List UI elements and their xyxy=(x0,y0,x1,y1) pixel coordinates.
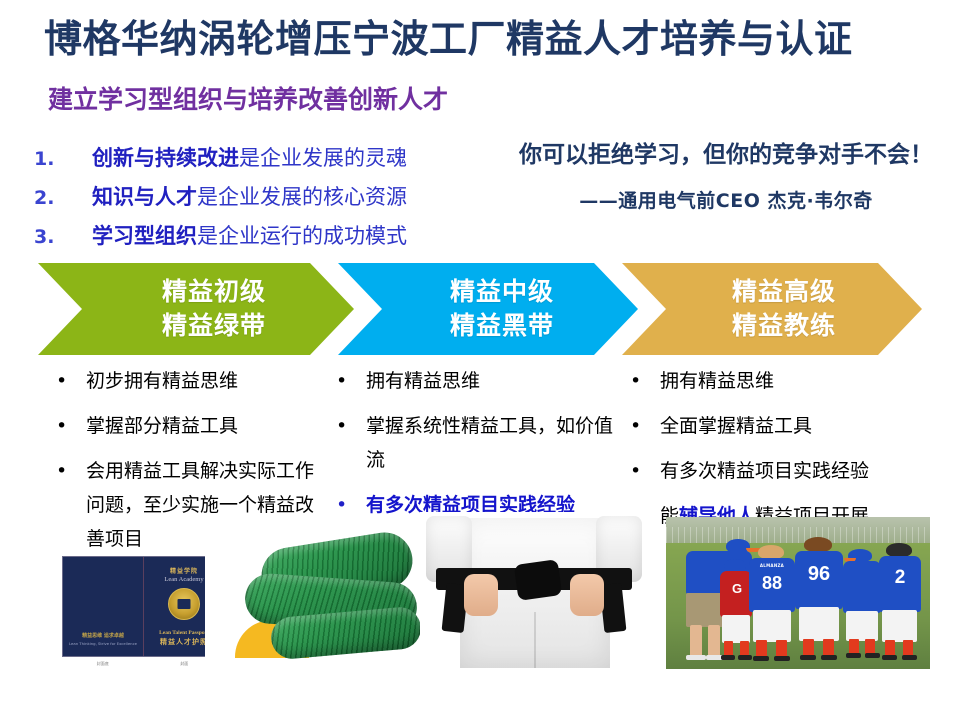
bullet-dot-icon: • xyxy=(630,454,660,488)
bullet-dot-icon: • xyxy=(336,409,366,443)
chevron-level-3[interactable]: 精益高级 精益教练 xyxy=(622,263,922,355)
quote-block: 你可以拒绝学习，但你的竞争对手不会！ ——通用电气前CEO 杰克·韦尔奇 xyxy=(500,142,952,213)
cap-icon xyxy=(886,543,912,557)
cap-icon xyxy=(804,537,832,552)
chevron-line-2: 精益教练 xyxy=(732,309,836,343)
numbered-list-item: 3. 学习型组织是企业运行的成功模式 xyxy=(34,220,504,259)
black-belt-knot xyxy=(514,559,563,601)
numbered-list-item: 1. 创新与持续改进是企业发展的灵魂 xyxy=(34,142,504,181)
chevron-level-1[interactable]: 精益初级 精益绿带 xyxy=(38,263,354,355)
shoe xyxy=(846,653,861,658)
player-88: ALMANZA 88 xyxy=(748,545,796,663)
passport-caption: 封面底 封面 xyxy=(62,661,225,667)
list-item: • 掌握系统性精益工具，如价值流 xyxy=(336,409,626,477)
bullet-text: 全面掌握精益工具 xyxy=(660,409,930,443)
chevron-level-2[interactable]: 精益中级 精益黑带 xyxy=(338,263,638,355)
bullet-dot-icon: • xyxy=(630,364,660,398)
pants xyxy=(722,615,750,643)
bullet-text: 掌握系统性精益工具，如价值流 xyxy=(366,409,626,477)
page-title: 博格华纳涡轮增压宁波工厂精益人才培养与认证 xyxy=(44,18,924,62)
bullet-text: 有多次精益项目实践经验 xyxy=(660,454,930,488)
jersey-name: ALMANZA xyxy=(748,563,796,568)
numbered-list: 1. 创新与持续改进是企业发展的灵魂 2. 知识与人才是企业发展的核心资源 3.… xyxy=(34,142,504,259)
chevron-band: 精益初级 精益绿带 精益中级 精益黑带 精益高级 精益教练 xyxy=(38,263,922,355)
academy-emblem-icon xyxy=(168,588,200,620)
pants xyxy=(846,611,878,641)
pants xyxy=(753,610,791,642)
bullet-dot-icon: • xyxy=(336,488,366,522)
list-text: 是企业发展的核心资源 xyxy=(197,181,407,211)
list-item: • 拥有精益思维 xyxy=(630,364,930,398)
passport-caption-left: 封面底 xyxy=(62,661,144,667)
shoe xyxy=(882,655,897,660)
passport-back-cn: 精益思维 追求卓越 xyxy=(63,632,143,639)
player-2: 2 xyxy=(878,543,922,663)
passport-back-en: Lean Thinking, Strive for Excellence xyxy=(63,641,143,646)
bullet-dot-icon: • xyxy=(56,409,86,443)
player-96: 96 xyxy=(794,539,844,663)
jersey-number: 88 xyxy=(748,573,796,594)
list-keyword: 创新与持续改进 xyxy=(92,142,239,172)
list-item: • 有多次精益项目实践经验 xyxy=(630,454,930,488)
shoe xyxy=(902,655,917,660)
list-number: 3. xyxy=(34,226,92,248)
passport-book: 精益思维 追求卓越 Lean Thinking, Strive for Exce… xyxy=(62,556,225,657)
black-belt-photo xyxy=(420,512,648,668)
player-middle xyxy=(842,547,882,663)
chevron-line-2: 精益绿带 xyxy=(162,309,266,343)
hand-left xyxy=(464,574,498,616)
passport-back-cover: 精益思维 追求卓越 Lean Thinking, Strive for Exce… xyxy=(63,557,144,656)
shoe xyxy=(821,655,837,660)
list-keyword: 知识与人才 xyxy=(92,181,197,211)
list-number: 1. xyxy=(34,148,92,170)
list-text: 是企业发展的灵魂 xyxy=(239,142,407,172)
shoe xyxy=(686,655,706,660)
bullet-dot-icon: • xyxy=(336,364,366,398)
list-keyword: 学习型组织 xyxy=(92,220,197,250)
chevron-line-1: 精益初级 xyxy=(162,275,266,309)
baseball-team-photo: G ALMANZA 88 96 xyxy=(666,517,930,669)
list-number: 2. xyxy=(34,187,92,209)
bullet-text: 初步拥有精益思维 xyxy=(86,364,324,398)
chevron-line-2: 精益黑带 xyxy=(450,309,554,343)
bullet-text: 掌握部分精益工具 xyxy=(86,409,324,443)
shoe xyxy=(753,656,769,661)
cap-icon xyxy=(758,545,784,559)
numbered-list-item: 2. 知识与人才是企业发展的核心资源 xyxy=(34,181,504,220)
bullet-text: 拥有精益思维 xyxy=(366,364,626,398)
coach-leg xyxy=(690,625,702,657)
jersey-number: 2 xyxy=(878,567,922,589)
page-subtitle: 建立学习型组织与培养改善创新人才 xyxy=(48,85,448,115)
bullet-dot-icon: • xyxy=(56,454,86,488)
quote-text: 你可以拒绝学习，但你的竞争对手不会！ xyxy=(500,142,952,170)
jersey-number: 96 xyxy=(794,563,844,586)
bullet-column-2: • 拥有精益思维 • 掌握系统性精益工具，如价值流 • 有多次精益项目实践经验 xyxy=(336,364,626,533)
shoe xyxy=(721,655,735,660)
chevron-line-1: 精益中级 xyxy=(450,275,554,309)
bullet-dot-icon: • xyxy=(630,409,660,443)
green-belt-photo xyxy=(205,528,420,668)
list-item: • 拥有精益思维 xyxy=(336,364,626,398)
list-item: • 全面掌握精益工具 xyxy=(630,409,930,443)
pants xyxy=(799,607,839,641)
passport-photo: 精益思维 追求卓越 Lean Thinking, Strive for Exce… xyxy=(62,556,225,667)
gi-center-seam xyxy=(534,612,536,668)
list-item: • 掌握部分精益工具 xyxy=(56,409,324,443)
bullet-dot-icon: • xyxy=(56,364,86,398)
chevron-line-1: 精益高级 xyxy=(732,275,836,309)
bullet-text: 拥有精益思维 xyxy=(660,364,930,398)
quote-author: ——通用电气前CEO 杰克·韦尔奇 xyxy=(500,186,952,213)
hand-right xyxy=(570,574,604,616)
list-item: • 初步拥有精益思维 xyxy=(56,364,324,398)
list-text: 是企业运行的成功模式 xyxy=(197,220,407,250)
jersey-middle xyxy=(843,561,881,613)
shoe xyxy=(800,655,816,660)
shoe xyxy=(774,656,790,661)
pants xyxy=(882,610,917,642)
